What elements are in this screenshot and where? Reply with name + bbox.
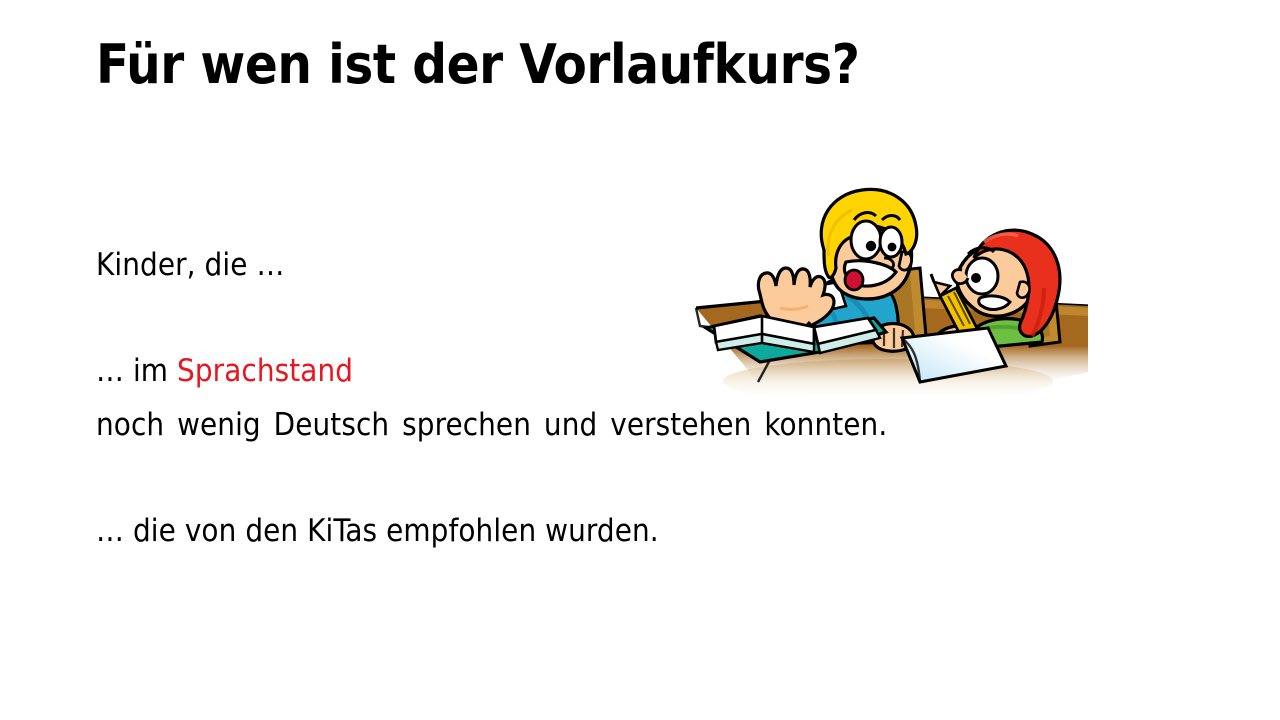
redhead-child-eye — [966, 258, 998, 294]
body-line-criterion-one-second: noch wenig Deutsch sprechen und verstehe… — [96, 398, 936, 452]
slide-canvas: Für wen ist der Vorlaufkurs? Kinder, die… — [0, 0, 1280, 720]
children-at-desk-icon — [688, 176, 1088, 404]
children-at-desk-illustration — [688, 176, 1088, 404]
blond-child-eye-left — [851, 221, 881, 259]
criterion-one-prefix: … im — [96, 353, 177, 389]
body-line-criterion-two: … die von den KiTas empfohlen wurden. — [96, 504, 936, 558]
criterion-one-keyword: Sprachstand — [177, 353, 353, 389]
blond-child-eye-right — [880, 227, 902, 257]
page-title: Für wen ist der Vorlaufkurs? — [96, 33, 1186, 97]
redhead-child-mouth — [979, 296, 1010, 310]
blond-child-tongue — [845, 270, 863, 290]
